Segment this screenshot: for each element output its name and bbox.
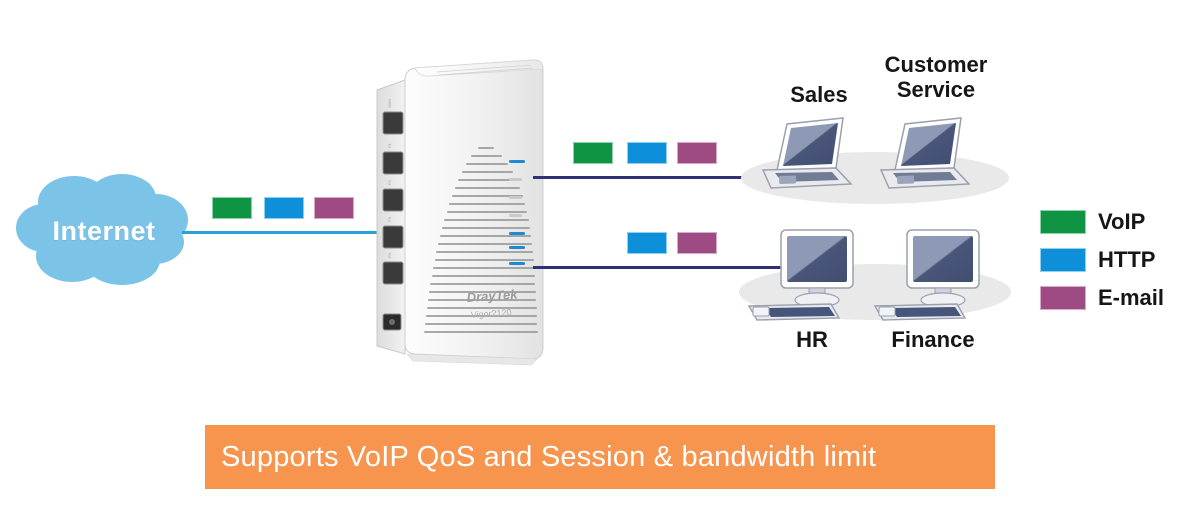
endpoint-cluster-bottom — [735, 218, 1015, 328]
legend-swatch-http — [1040, 248, 1086, 272]
legend-label-http: HTTP — [1098, 247, 1155, 273]
router-device[interactable]: DrayTek Vigor2120 WAN P1 P2 P3 P4 — [371, 56, 551, 371]
legend-label-email: E-mail — [1098, 285, 1164, 311]
endpoint-cluster-top — [735, 100, 1015, 210]
wan-packet-voip — [212, 197, 252, 219]
diagram-canvas: Internet — [0, 0, 1199, 529]
wan-packet-email — [314, 197, 354, 219]
feature-banner: Supports VoIP QoS and Session & bandwidt… — [205, 425, 995, 489]
svg-text:P1: P1 — [387, 142, 392, 148]
legend-item-http: HTTP — [1040, 241, 1190, 279]
node-label-customer-service: Customer Service — [868, 52, 1004, 102]
wan-link — [182, 231, 378, 234]
lan-bottom-packet-http — [627, 232, 667, 254]
legend-item-voip: VoIP — [1040, 203, 1190, 241]
lan-bottom-packet-email — [677, 232, 717, 254]
node-label-sales: Sales — [774, 82, 864, 107]
node-label-hr: HR — [770, 327, 854, 352]
legend-swatch-email — [1040, 286, 1086, 310]
node-label-finance: Finance — [872, 327, 994, 352]
internet-cloud: Internet — [14, 172, 194, 287]
legend-swatch-voip — [1040, 210, 1086, 234]
lan-top-packet-email — [677, 142, 717, 164]
lan-top-packet-voip — [573, 142, 613, 164]
svg-text:P4: P4 — [387, 252, 392, 258]
svg-text:WAN: WAN — [387, 99, 392, 108]
svg-text:P2: P2 — [387, 179, 392, 185]
legend: VoIP HTTP E-mail — [1040, 203, 1190, 317]
legend-label-voip: VoIP — [1098, 209, 1145, 235]
feature-banner-text: Supports VoIP QoS and Session & bandwidt… — [221, 441, 876, 474]
svg-text:P3: P3 — [387, 216, 392, 222]
lan-top-packet-http — [627, 142, 667, 164]
legend-item-email: E-mail — [1040, 279, 1190, 317]
wan-packet-http — [264, 197, 304, 219]
